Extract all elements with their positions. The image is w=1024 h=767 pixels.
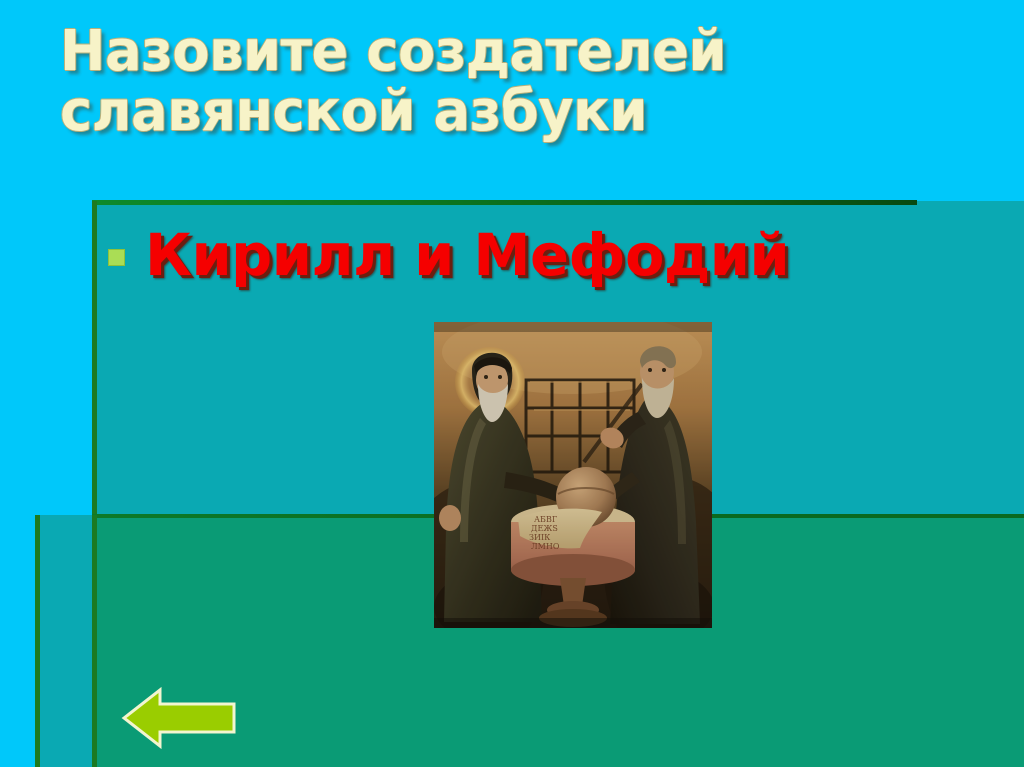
upper-panel-accent-line: [92, 200, 917, 205]
upper-panel-left-border: [92, 201, 97, 517]
bullet-square-icon: [108, 249, 125, 266]
lower-panel-left-strip: [35, 515, 92, 767]
bullet-list-item: Кирилл и Мефодий: [108, 222, 796, 288]
lower-panel-outer-border: [35, 515, 40, 767]
bullet-item-label: Кирилл и Мефодий: [145, 222, 789, 288]
picture-artwork: АБВГ ДЕЖЅ ЗИІК ЛМНО: [434, 322, 712, 628]
slide-title: Назовите создателей славянской азбуки: [60, 22, 933, 142]
arrow-left-icon[interactable]: [120, 686, 238, 750]
presentation-slide: Назовите создателей славянской азбуки Ки…: [0, 0, 1024, 767]
back-arrow-button[interactable]: [120, 686, 238, 750]
lower-panel-inner-border: [92, 515, 97, 767]
icon-cyril-and-methodius-image: АБВГ ДЕЖЅ ЗИІК ЛМНО: [434, 322, 712, 628]
